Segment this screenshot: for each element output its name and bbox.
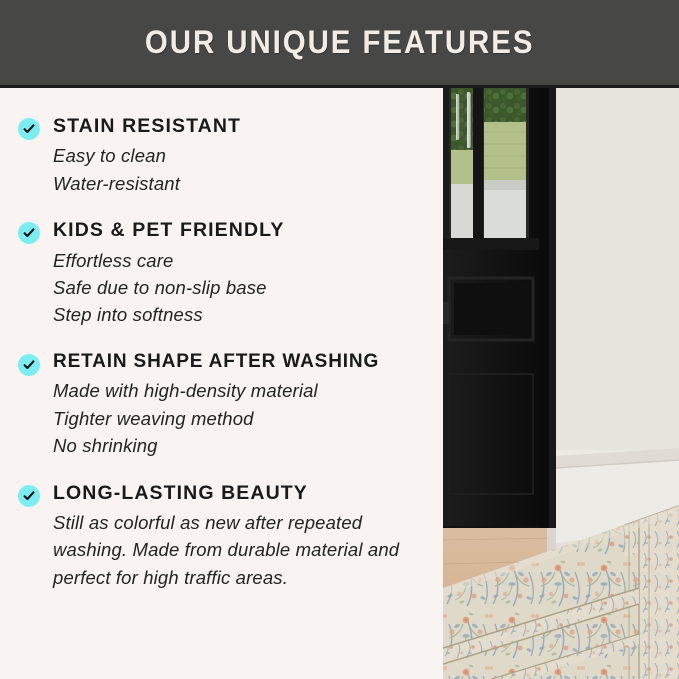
feature-line: Tighter weaving method	[53, 405, 435, 432]
check-circle-icon	[18, 118, 40, 140]
feature-line-list: Made with high-density material Tighter …	[53, 377, 435, 459]
feature-line: Water-resistant	[53, 170, 435, 197]
feature-line-list: Easy to clean Water-resistant	[53, 142, 435, 197]
product-photo	[443, 88, 679, 679]
product-feature-infographic: OUR UNIQUE FEATURES STAIN RESISTANT Easy…	[0, 0, 679, 679]
feature-heading: STAIN RESISTANT	[53, 114, 435, 138]
header-bar: OUR UNIQUE FEATURES	[0, 0, 679, 88]
feature-line: Easy to clean	[53, 142, 435, 169]
entryway-scene-illustration	[443, 88, 679, 679]
check-circle-icon	[18, 354, 40, 376]
feature-line: No shrinking	[53, 432, 435, 459]
feature-item-retain-shape: RETAIN SHAPE AFTER WASHING Made with hig…	[18, 350, 435, 460]
feature-line: Made with high-density material	[53, 377, 435, 404]
features-panel: STAIN RESISTANT Easy to clean Water-resi…	[0, 88, 443, 679]
feature-heading: RETAIN SHAPE AFTER WASHING	[53, 350, 435, 374]
check-circle-icon	[18, 222, 40, 244]
feature-heading: KIDS & PET FRIENDLY	[53, 218, 435, 242]
feature-line: Step into softness	[53, 301, 435, 328]
feature-heading: LONG-LASTING BEAUTY	[53, 481, 435, 505]
check-circle-icon	[18, 485, 40, 507]
feature-item-kids-pet-friendly: KIDS & PET FRIENDLY Effortless care Safe…	[18, 218, 435, 329]
feature-item-stain-resistant: STAIN RESISTANT Easy to clean Water-resi…	[18, 114, 435, 197]
page-title: OUR UNIQUE FEATURES	[145, 24, 534, 61]
feature-line: Safe due to non-slip base	[53, 274, 435, 301]
feature-line-list: Effortless care Safe due to non-slip bas…	[53, 247, 435, 329]
feature-line: Effortless care	[53, 247, 435, 274]
feature-paragraph: Still as colorful as new after repeated …	[53, 509, 435, 591]
feature-item-long-lasting-beauty: LONG-LASTING BEAUTY Still as colorful as…	[18, 481, 435, 592]
